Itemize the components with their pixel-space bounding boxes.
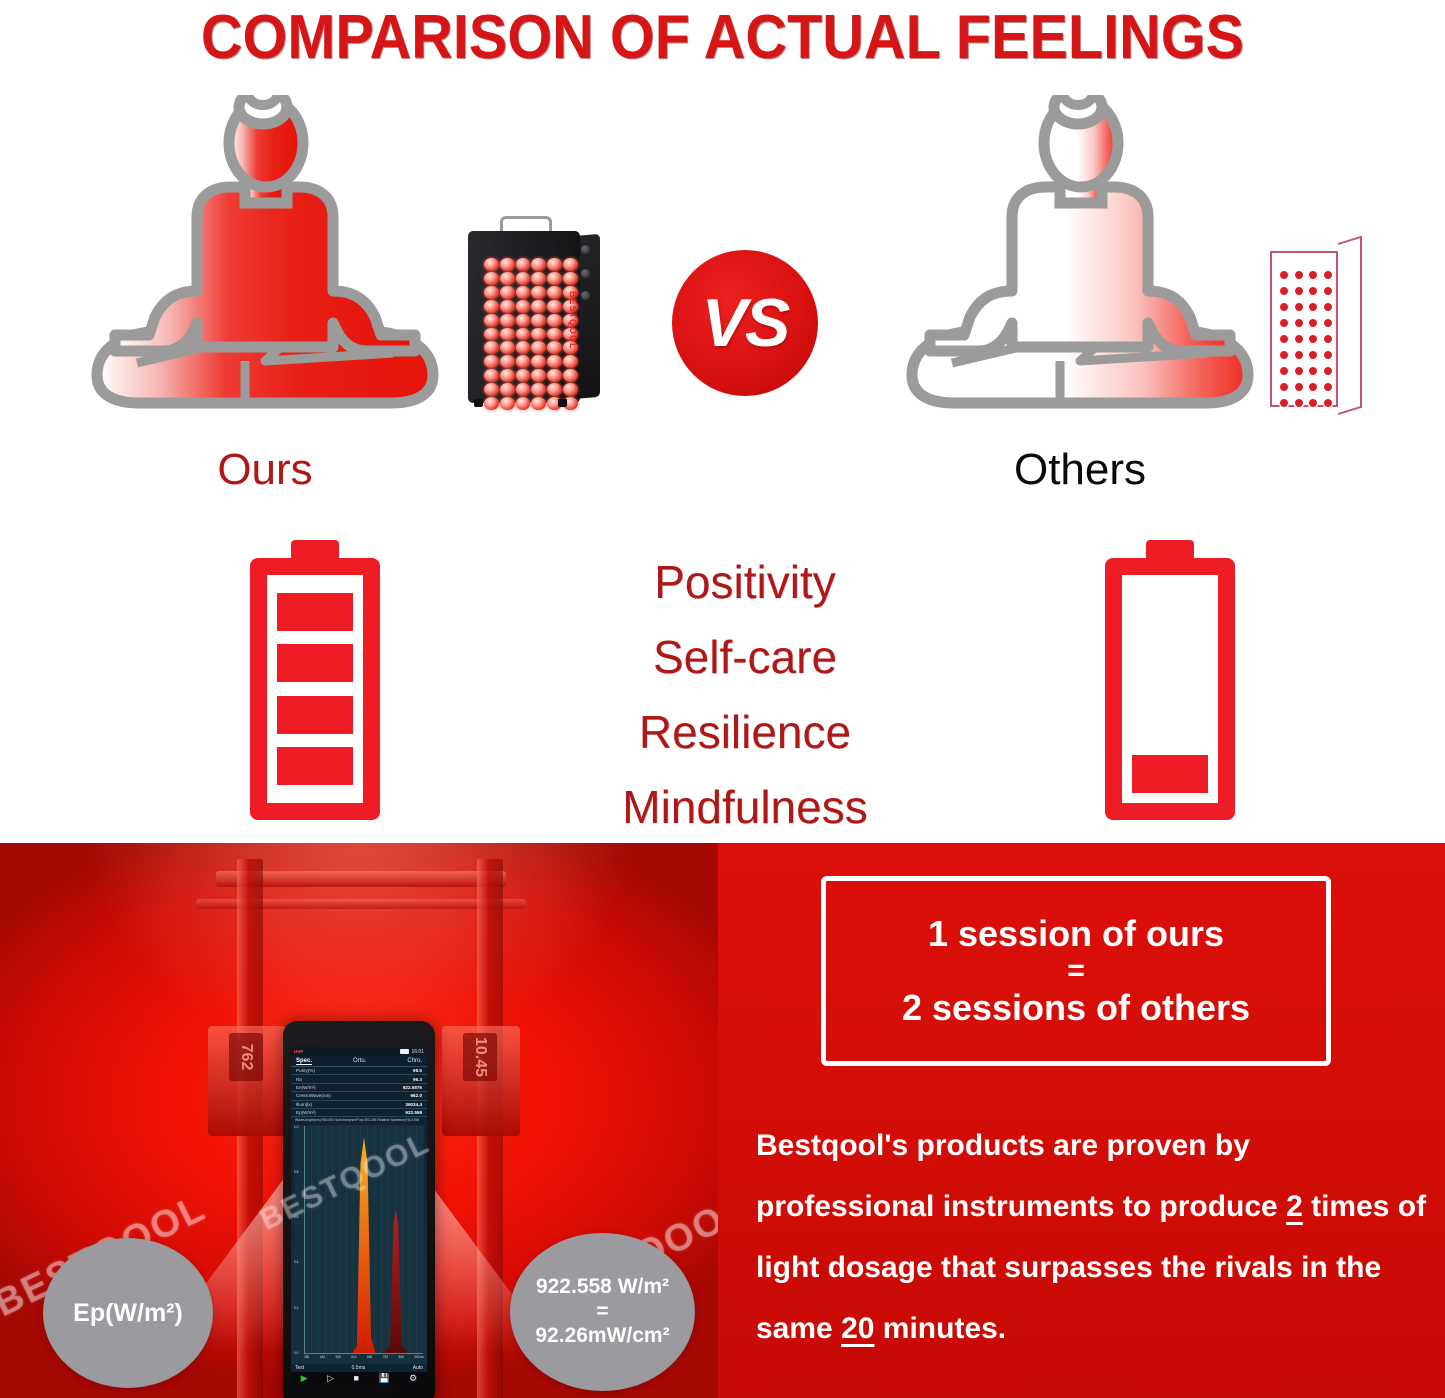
benefits-list: Positivity Self-care Resilience Mindfuln… [545, 545, 945, 845]
benefit-item: Mindfulness [545, 770, 945, 845]
table-row: Ra 96.3 [291, 1075, 427, 1083]
table-row: CentroWave(nm) 662.0 [291, 1092, 427, 1100]
tab-spec[interactable]: Spec. [296, 1058, 312, 1065]
metric-label: Ep(W/m²) [73, 1299, 183, 1328]
paragraph-part-1: Bestqool's products are proven by profes… [756, 1129, 1286, 1223]
claim-line-2: 2 sessions of others [902, 988, 1250, 1028]
paragraph-highlight-1: 2 [1286, 1190, 1303, 1223]
metric-value-equals: = [596, 1300, 608, 1323]
ours-device: BESTQOOL [460, 213, 610, 413]
footer-test-label: Test [295, 1365, 304, 1371]
app-brand-label: UVP [294, 1049, 303, 1054]
clamp-right: 10.45 [442, 1026, 520, 1136]
clamp-readout-right: 10.45 [463, 1033, 497, 1081]
x-tick: 753 [383, 1355, 388, 1363]
y-tick: 0.0 [294, 1351, 303, 1355]
device-brand-label: BESTQOOL [568, 291, 578, 350]
table-row: Ee(W/m²) 922.5876 [291, 1084, 427, 1092]
row-label: Ra [296, 1077, 302, 1082]
bottom-section: 762 10.45 UVP 16:01 [0, 843, 1445, 1398]
row-value: 922.558 [405, 1110, 422, 1115]
benefit-item: Positivity [545, 545, 945, 620]
others-device [1270, 243, 1370, 415]
gear-icon[interactable]: ⚙ [409, 1374, 417, 1383]
others-meditation-figure [900, 95, 1260, 425]
measurement-rows: Purity(%) 98.5 Ra 96.3 Ee(W/m²) 922.5876 [291, 1067, 427, 1117]
claim-box: 1 session of ours = 2 sessions of others [821, 876, 1331, 1066]
device-led-grid [482, 256, 580, 412]
benefit-item: Resilience [545, 695, 945, 770]
row-value: 98.5 [413, 1068, 422, 1073]
row-value: 36034.4 [405, 1102, 422, 1107]
infographic-page: COMPARISON OF ACTUAL FEELINGS [0, 0, 1445, 1398]
row-value: 96.3 [413, 1077, 422, 1082]
ours-label: Ours [85, 445, 445, 495]
battery-full-icon [250, 540, 380, 820]
play-icon[interactable]: ▶ [301, 1374, 308, 1383]
metric-value-secondary: 92.26mW/cm² [535, 1324, 669, 1347]
paragraph-highlight-2: 20 [841, 1312, 874, 1345]
page-title: COMPARISON OF ACTUAL FEELINGS [51, 2, 1395, 73]
table-row: Illum(lx) 36034.4 [291, 1101, 427, 1109]
vs-label: VS [702, 284, 789, 362]
others-device-front [1270, 251, 1338, 407]
table-row: Purity(%) 98.5 [291, 1067, 427, 1075]
metric-label-bubble: Ep(W/m²) [43, 1238, 213, 1388]
tab-ortu[interactable]: Ortu. [353, 1058, 366, 1065]
claim-panel: 1 session of ours = 2 sessions of others… [718, 843, 1445, 1398]
save-icon[interactable]: 💾 [378, 1374, 389, 1383]
row-value: 922.5876 [403, 1085, 422, 1090]
claim-paragraph: Bestqool's products are proven by profes… [756, 1115, 1428, 1359]
spectrometer-tabs[interactable]: Spec. Ortu. Chro. [291, 1056, 427, 1067]
clamp-left: 762 [208, 1026, 286, 1136]
chart-y-axis: 1.0 0.8 0.6 0.4 0.2 0.0 [294, 1125, 303, 1355]
status-bar: UVP 16:01 [291, 1047, 427, 1056]
row-label: Ep(W/m²) [296, 1110, 316, 1115]
clamp-readout-left: 762 [229, 1033, 263, 1081]
x-tick: 530 [336, 1355, 341, 1363]
row-label: Illum(lx) [296, 1102, 312, 1107]
step-icon[interactable]: ▷ [327, 1374, 334, 1383]
battery-low-icon [1105, 540, 1235, 820]
others-label: Others [900, 445, 1260, 495]
chart-x-axis: 380 440 530 614 686 753 866 960nm [304, 1355, 424, 1363]
row-label: CentroWave(nm) [296, 1093, 331, 1098]
device-body [468, 231, 580, 403]
paragraph-part-3: minutes. [874, 1312, 1006, 1345]
x-tick: 686 [367, 1355, 372, 1363]
claim-line-1: 1 session of ours [928, 914, 1224, 954]
ours-meditation-figure [85, 95, 445, 425]
x-tick: 380 [304, 1355, 309, 1363]
chart-footer: Test 0.5ms Auto [291, 1364, 427, 1372]
y-tick: 0.8 [294, 1170, 303, 1174]
measurement-photo: 762 10.45 UVP 16:01 [0, 843, 718, 1398]
row-value: 662.0 [411, 1093, 423, 1098]
footer-mode-label: Auto [413, 1365, 423, 1371]
x-tick: 866 [399, 1355, 404, 1363]
table-row: Ep(W/m²) 922.558 [291, 1109, 427, 1117]
benefit-item: Self-care [545, 620, 945, 695]
others-device-side [1338, 236, 1362, 415]
x-tick: 440 [320, 1355, 325, 1363]
stop-icon[interactable]: ■ [354, 1374, 359, 1383]
metric-value-bubble: 922.558 W/m² = 92.26mW/cm² [510, 1233, 695, 1391]
y-tick: 1.0 [294, 1125, 303, 1129]
tab-chro[interactable]: Chro. [407, 1058, 422, 1065]
y-tick: 0.4 [294, 1260, 303, 1264]
footer-exposure-label: 0.5ms [352, 1365, 366, 1371]
vs-badge: VS [672, 250, 818, 396]
clock-label: 16:01 [411, 1049, 424, 1055]
row-label: Purity(%) [296, 1068, 315, 1073]
metric-value-primary: 922.558 W/m² [536, 1275, 669, 1298]
x-tick: 960nm [414, 1355, 424, 1363]
row-label: Ee(W/m²) [296, 1085, 316, 1090]
battery-icon [400, 1049, 409, 1054]
x-tick: 614 [351, 1355, 356, 1363]
spectrum-note: WaveLength(nm):950.000 Spectrum(nm/Pos):… [291, 1117, 427, 1123]
spectrometer-toolbar[interactable]: ▶ ▷ ■ 💾 ⚙ [291, 1372, 427, 1385]
others-device-led-grid [1277, 267, 1335, 411]
y-tick: 0.2 [294, 1306, 303, 1310]
claim-equals: = [1067, 954, 1085, 989]
